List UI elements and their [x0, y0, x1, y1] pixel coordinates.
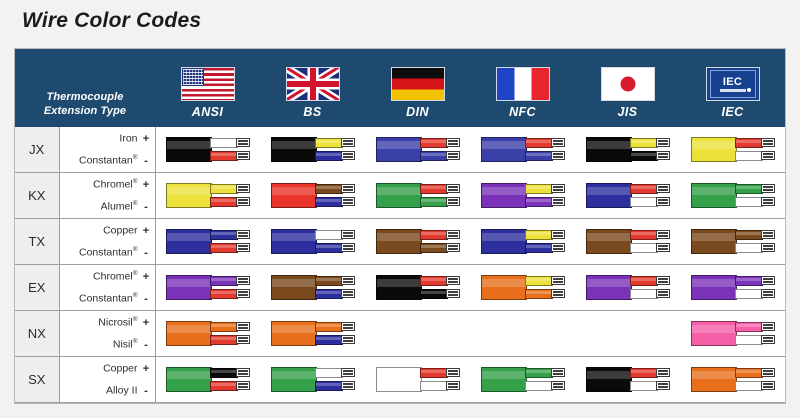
conductor-positive [525, 184, 553, 194]
france-flag-icon [496, 67, 550, 101]
wire-cell-kx-iec [680, 173, 785, 219]
conductor-tip-positive [236, 322, 250, 331]
conductor-tip-negative [551, 243, 565, 252]
wire-graphic [376, 274, 460, 301]
wire-jacket [166, 367, 212, 392]
wire-jacket [376, 275, 422, 300]
uk-flag-icon [286, 67, 340, 101]
wire-jacket [271, 275, 317, 300]
conductor-positive [525, 230, 553, 240]
iec-logo-icon: IEC [706, 67, 760, 101]
material-name-neg: Alloy II [106, 384, 138, 397]
wire-jacket [691, 183, 737, 208]
header-column-jis[interactable]: JIS [575, 49, 680, 127]
conductor-tip-positive [446, 368, 460, 377]
wire-graphic [586, 182, 670, 209]
wire-cell-nx-din [365, 311, 470, 357]
wire-cell-tx-bs [260, 219, 365, 265]
conductor-tip-negative [656, 243, 670, 252]
polarity-sign-pos: + [138, 133, 155, 145]
conductor-tip-negative [551, 289, 565, 298]
conductor-positive [630, 138, 658, 148]
conductor-negative [735, 197, 763, 207]
wire-graphic [376, 136, 460, 163]
row-code-kx: KX [15, 173, 59, 219]
polarity-sign-neg: - [138, 339, 155, 351]
wire-graphic [481, 136, 565, 163]
material-name-neg: Constantan® [79, 154, 138, 167]
conductor-tip-positive [446, 138, 460, 147]
conductor-negative [525, 151, 553, 161]
wire-graphic [166, 182, 250, 209]
wire-cell-jx-nfc [470, 127, 575, 173]
conductor-tip-negative [446, 289, 460, 298]
wire-graphic [586, 274, 670, 301]
conductor-tip-negative [761, 335, 775, 344]
conductor-tip-positive [761, 230, 775, 239]
conductor-tip-positive [656, 138, 670, 147]
conductor-tip-negative [236, 335, 250, 344]
wire-graphic [691, 228, 775, 255]
wire-cell-sx-bs [260, 357, 365, 403]
conductor-negative [210, 289, 238, 299]
conductor-tip-positive [761, 368, 775, 377]
conductor-negative [315, 335, 343, 345]
conductor-positive [735, 138, 763, 148]
wire-cell-ex-ansi [155, 265, 260, 311]
wire-jacket [586, 367, 632, 392]
wire-color-codes-table-container: Thermocouple Extension Type ANSI [14, 48, 786, 404]
conductor-positive [630, 184, 658, 194]
material-line-neg: Alloy II- [60, 380, 155, 402]
conductor-tip-positive [551, 230, 565, 239]
conductor-tip-negative [761, 381, 775, 390]
title-bar: Wire Color Codes [0, 0, 800, 42]
conductor-negative [735, 243, 763, 253]
wire-cell-nx-jis [575, 311, 680, 357]
conductor-negative [210, 381, 238, 391]
wire-graphic [271, 320, 355, 347]
row-materials: Nicrosil®+Nisil®- [59, 311, 155, 357]
conductor-positive [630, 276, 658, 286]
conductor-negative [315, 289, 343, 299]
conductor-positive [735, 184, 763, 194]
row-code-jx: JX [15, 127, 59, 173]
conductor-tip-positive [761, 138, 775, 147]
conductor-positive [735, 276, 763, 286]
conductor-positive [525, 138, 553, 148]
conductor-tip-negative [341, 381, 355, 390]
conductor-tip-negative [341, 243, 355, 252]
conductor-tip-negative [446, 151, 460, 160]
conductor-tip-positive [341, 184, 355, 193]
header-label-nfc: NFC [509, 101, 536, 127]
wire-jacket [166, 229, 212, 254]
material-line-neg: Nisil®- [60, 334, 155, 356]
conductor-positive [315, 276, 343, 286]
wire-graphic [271, 228, 355, 255]
wire-cell-jx-iec [680, 127, 785, 173]
wire-graphic [481, 274, 565, 301]
header-column-iec[interactable]: IEC IEC [680, 49, 785, 127]
conductor-tip-negative [656, 381, 670, 390]
wire-cell-ex-nfc [470, 265, 575, 311]
material-line-pos: Chromel®+ [60, 174, 155, 196]
material-line-pos: Copper+ [60, 358, 155, 380]
wire-jacket [691, 367, 737, 392]
conductor-tip-positive [761, 276, 775, 285]
conductor-tip-negative [551, 197, 565, 206]
conductor-negative [630, 243, 658, 253]
wire-jacket [691, 137, 737, 162]
polarity-sign-pos: + [138, 225, 155, 237]
conductor-tip-negative [551, 151, 565, 160]
conductor-positive [315, 368, 343, 378]
material-name-pos: Nicrosil® [98, 316, 137, 329]
conductor-negative [420, 243, 448, 253]
wire-graphic [586, 136, 670, 163]
header-label-iec: IEC [721, 101, 743, 127]
wire-cell-tx-jis [575, 219, 680, 265]
wire-cell-sx-jis [575, 357, 680, 403]
conductor-positive [210, 322, 238, 332]
corner-label-line1: Thermocouple [15, 90, 155, 104]
conductor-tip-negative [446, 243, 460, 252]
conductor-tip-positive [446, 184, 460, 193]
wire-cell-nx-ansi [155, 311, 260, 357]
material-line-pos: Iron+ [60, 128, 155, 150]
conductor-positive [210, 138, 238, 148]
table-row: JXIron+Constantan®- [15, 127, 785, 173]
conductor-negative [420, 151, 448, 161]
iec-logo-text: IEC [723, 77, 742, 87]
conductor-tip-negative [236, 243, 250, 252]
conductor-positive [315, 138, 343, 148]
wire-jacket [376, 183, 422, 208]
conductor-tip-positive [656, 276, 670, 285]
wire-cell-kx-ansi [155, 173, 260, 219]
japan-flag-icon [601, 67, 655, 101]
wire-cell-tx-nfc [470, 219, 575, 265]
wire-graphic [481, 228, 565, 255]
wire-jacket [481, 367, 527, 392]
material-name-pos: Chromel® [93, 270, 137, 283]
row-code-nx: NX [15, 311, 59, 357]
wire-cell-tx-iec [680, 219, 785, 265]
conductor-tip-positive [446, 276, 460, 285]
table-row: SXCopper+Alloy II- [15, 357, 785, 403]
header-label-jis: JIS [618, 101, 638, 127]
wire-cell-sx-ansi [155, 357, 260, 403]
conductor-tip-positive [236, 184, 250, 193]
conductor-tip-positive [341, 230, 355, 239]
conductor-positive [630, 230, 658, 240]
corner-label-line2: Extension Type [15, 104, 155, 118]
conductor-positive [420, 230, 448, 240]
conductor-negative [735, 289, 763, 299]
wire-graphic [166, 366, 250, 393]
material-name-pos: Chromel® [93, 178, 137, 191]
wire-jacket [166, 183, 212, 208]
conductor-negative [420, 289, 448, 299]
conductor-positive [630, 368, 658, 378]
wire-graphic [166, 320, 250, 347]
conductor-negative [630, 151, 658, 161]
wire-graphic [691, 136, 775, 163]
wire-graphic [586, 228, 670, 255]
wire-jacket [481, 183, 527, 208]
conductor-tip-negative [236, 151, 250, 160]
material-name-neg: Alumel® [101, 200, 138, 213]
conductor-negative [525, 381, 553, 391]
conductor-negative [630, 381, 658, 391]
conductor-negative [735, 151, 763, 161]
wire-cell-nx-iec [680, 311, 785, 357]
wire-graphic [691, 366, 775, 393]
material-name-neg: Nisil® [113, 338, 138, 351]
conductor-negative [420, 381, 448, 391]
material-name-neg: Constantan® [79, 292, 138, 305]
wire-jacket [481, 137, 527, 162]
conductor-tip-negative [236, 197, 250, 206]
conductor-tip-positive [341, 138, 355, 147]
wire-jacket [376, 137, 422, 162]
wire-cell-nx-bs [260, 311, 365, 357]
row-code-ex: EX [15, 265, 59, 311]
conductor-negative [315, 197, 343, 207]
wire-jacket [481, 275, 527, 300]
header-thermocouple-extension-type: Thermocouple Extension Type [15, 49, 155, 127]
conductor-negative [210, 151, 238, 161]
conductor-positive [210, 276, 238, 286]
wire-graphic [691, 274, 775, 301]
wire-jacket [586, 137, 632, 162]
wire-jacket [166, 137, 212, 162]
conductor-tip-positive [551, 368, 565, 377]
wire-graphic [271, 274, 355, 301]
wire-jacket [271, 137, 317, 162]
wire-graphic [586, 366, 670, 393]
wire-cell-tx-din [365, 219, 470, 265]
conductor-tip-negative [761, 151, 775, 160]
conductor-tip-positive [341, 322, 355, 331]
polarity-sign-pos: + [138, 317, 155, 329]
germany-flag-icon [391, 67, 445, 101]
conductor-negative [315, 381, 343, 391]
conductor-positive [315, 184, 343, 194]
conductor-negative [630, 289, 658, 299]
conductor-positive [735, 322, 763, 332]
wire-cell-tx-ansi [155, 219, 260, 265]
conductor-negative [315, 243, 343, 253]
material-line-neg: Constantan®- [60, 288, 155, 310]
wire-jacket [376, 229, 422, 254]
conductor-positive [315, 230, 343, 240]
wire-cell-sx-din [365, 357, 470, 403]
header-column-nfc[interactable]: NFC [470, 49, 575, 127]
conductor-tip-negative [236, 289, 250, 298]
conductor-negative [525, 243, 553, 253]
conductor-tip-negative [341, 197, 355, 206]
wire-jacket [166, 275, 212, 300]
wire-graphic [376, 228, 460, 255]
conductor-negative [525, 289, 553, 299]
wire-graphic [166, 136, 250, 163]
wire-cell-ex-bs [260, 265, 365, 311]
wire-graphic [376, 182, 460, 209]
conductor-tip-negative [446, 381, 460, 390]
conductor-negative [735, 335, 763, 345]
wire-graphic [271, 366, 355, 393]
row-code-tx: TX [15, 219, 59, 265]
header-label-bs: BS [303, 101, 321, 127]
conductor-negative [315, 151, 343, 161]
row-materials: Chromel®+Alumel®- [59, 173, 155, 219]
wire-cell-jx-din [365, 127, 470, 173]
table-row: KXChromel®+Alumel®- [15, 173, 785, 219]
page-title: Wire Color Codes [22, 9, 201, 33]
conductor-tip-positive [551, 276, 565, 285]
conductor-positive [420, 184, 448, 194]
material-line-pos: Nicrosil®+ [60, 312, 155, 334]
wire-graphic [481, 182, 565, 209]
row-materials: Copper+Constantan®- [59, 219, 155, 265]
conductor-positive [210, 184, 238, 194]
wire-cell-jx-bs [260, 127, 365, 173]
header-label-ansi: ANSI [192, 101, 223, 127]
conductor-tip-positive [656, 184, 670, 193]
wire-jacket [481, 229, 527, 254]
wire-cell-nx-nfc [470, 311, 575, 357]
wire-jacket [376, 367, 422, 392]
header-label-din: DIN [406, 101, 429, 127]
row-materials: Chromel®+Constantan®- [59, 265, 155, 311]
conductor-tip-positive [341, 368, 355, 377]
row-code-sx: SX [15, 357, 59, 403]
conductor-negative [630, 197, 658, 207]
polarity-sign-pos: + [138, 271, 155, 283]
conductor-positive [210, 230, 238, 240]
wire-jacket [586, 275, 632, 300]
wire-jacket [586, 183, 632, 208]
wire-cell-jx-jis [575, 127, 680, 173]
material-line-neg: Constantan®- [60, 242, 155, 264]
conductor-tip-positive [761, 322, 775, 331]
conductor-tip-positive [551, 184, 565, 193]
row-materials: Copper+Alloy II- [59, 357, 155, 403]
conductor-tip-negative [656, 197, 670, 206]
conductor-positive [525, 276, 553, 286]
polarity-sign-neg: - [138, 385, 155, 397]
wire-jacket [271, 367, 317, 392]
wire-jacket [691, 275, 737, 300]
wire-cell-jx-ansi [155, 127, 260, 173]
conductor-tip-negative [656, 151, 670, 160]
wire-cell-ex-din [365, 265, 470, 311]
conductor-tip-positive [341, 276, 355, 285]
conductor-negative [420, 197, 448, 207]
wire-graphic [481, 366, 565, 393]
conductor-tip-negative [761, 289, 775, 298]
conductor-positive [420, 138, 448, 148]
header-row: Thermocouple Extension Type ANSI [15, 49, 785, 127]
polarity-sign-neg: - [138, 247, 155, 259]
conductor-tip-positive [236, 368, 250, 377]
material-line-pos: Copper+ [60, 220, 155, 242]
conductor-tip-positive [236, 230, 250, 239]
wire-graphic [691, 320, 775, 347]
conductor-negative [735, 381, 763, 391]
polarity-sign-neg: - [138, 293, 155, 305]
conductor-positive [735, 368, 763, 378]
wire-jacket [271, 321, 317, 346]
conductor-tip-negative [656, 289, 670, 298]
conductor-negative [210, 243, 238, 253]
conductor-tip-negative [761, 197, 775, 206]
wire-cell-kx-nfc [470, 173, 575, 219]
conductor-positive [210, 368, 238, 378]
conductor-tip-negative [341, 289, 355, 298]
conductor-positive [315, 322, 343, 332]
polarity-sign-pos: + [138, 179, 155, 191]
wire-graphic [166, 228, 250, 255]
wire-color-codes-page: Wire Color Codes Thermocouple Extension … [0, 0, 800, 418]
conductor-negative [210, 335, 238, 345]
conductor-tip-positive [446, 230, 460, 239]
us-flag-icon [181, 67, 235, 101]
conductor-tip-positive [551, 138, 565, 147]
conductor-tip-negative [551, 381, 565, 390]
material-line-neg: Constantan®- [60, 150, 155, 172]
conductor-tip-positive [761, 184, 775, 193]
material-name-pos: Copper [103, 224, 137, 237]
header-column-ansi[interactable]: ANSI [155, 49, 260, 127]
conductor-tip-negative [236, 381, 250, 390]
conductor-tip-negative [446, 197, 460, 206]
row-materials: Iron+Constantan®- [59, 127, 155, 173]
conductor-tip-negative [761, 243, 775, 252]
wire-graphic [271, 136, 355, 163]
polarity-sign-neg: - [138, 201, 155, 213]
table-row: NXNicrosil®+Nisil®- [15, 311, 785, 357]
conductor-positive [420, 368, 448, 378]
wire-cell-sx-iec [680, 357, 785, 403]
wire-graphic [271, 182, 355, 209]
header-column-bs[interactable]: BS [260, 49, 365, 127]
conductor-positive [735, 230, 763, 240]
wire-graphic [166, 274, 250, 301]
wire-cell-kx-din [365, 173, 470, 219]
wire-jacket [586, 229, 632, 254]
header-column-din[interactable]: DIN [365, 49, 470, 127]
conductor-negative [210, 197, 238, 207]
conductor-tip-positive [236, 138, 250, 147]
conductor-tip-negative [341, 151, 355, 160]
wire-cell-sx-nfc [470, 357, 575, 403]
table-header: Thermocouple Extension Type ANSI [15, 49, 785, 127]
conductor-tip-positive [656, 230, 670, 239]
material-line-pos: Chromel®+ [60, 266, 155, 288]
table-row: TXCopper+Constantan®- [15, 219, 785, 265]
material-line-neg: Alumel®- [60, 196, 155, 218]
table-row: EXChromel®+Constantan®- [15, 265, 785, 311]
material-name-neg: Constantan® [79, 246, 138, 259]
conductor-tip-negative [341, 335, 355, 344]
material-name-pos: Copper [103, 362, 137, 375]
polarity-sign-neg: - [138, 155, 155, 167]
polarity-sign-pos: + [138, 363, 155, 375]
wire-graphic [691, 182, 775, 209]
